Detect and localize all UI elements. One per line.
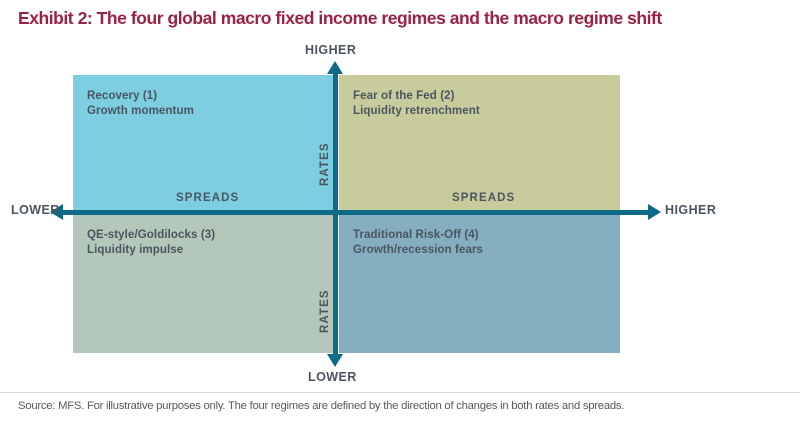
page-title: Exhibit 2: The four global macro fixed i… bbox=[18, 8, 788, 29]
footer-divider bbox=[0, 392, 800, 393]
x-axis-name-right: SPREADS bbox=[452, 192, 515, 204]
y-axis-name-lower: RATES bbox=[319, 289, 331, 333]
quadrant-qe-style-goldilocks: QE-style/Goldilocks (3) Liquidity impuls… bbox=[73, 214, 337, 353]
quadrant-2-subtitle: Liquidity retrenchment bbox=[353, 104, 620, 119]
quadrant-1-title: Recovery (1) bbox=[87, 89, 337, 104]
arrow-up-icon bbox=[327, 61, 343, 74]
quadrant-2-title: Fear of the Fed (2) bbox=[353, 89, 620, 104]
horizontal-axis-line bbox=[62, 210, 650, 215]
quadrant-3-subtitle: Liquidity impulse bbox=[87, 243, 337, 258]
quadrant-3-title: QE-style/Goldilocks (3) bbox=[87, 228, 337, 243]
quadrant-4-subtitle: Growth/recession fears bbox=[353, 243, 620, 258]
arrow-right-icon bbox=[648, 204, 661, 220]
quadrant-matrix-diagram: Recovery (1) Growth momentum Fear of the… bbox=[0, 36, 800, 391]
source-note: Source: MFS. For illustrative purposes o… bbox=[18, 400, 788, 412]
quadrant-1-subtitle: Growth momentum bbox=[87, 104, 337, 119]
quadrant-traditional-risk-off: Traditional Risk-Off (4) Growth/recessio… bbox=[339, 214, 620, 353]
y-axis-high-label: HIGHER bbox=[305, 43, 356, 57]
y-axis-low-label: LOWER bbox=[308, 370, 357, 384]
x-axis-low-label: LOWER bbox=[11, 203, 60, 217]
x-axis-name-left: SPREADS bbox=[176, 192, 239, 204]
quadrant-4-title: Traditional Risk-Off (4) bbox=[353, 228, 620, 243]
x-axis-high-label: HIGHER bbox=[665, 203, 716, 217]
y-axis-name-upper: RATES bbox=[319, 142, 331, 186]
arrow-down-icon bbox=[327, 354, 343, 367]
